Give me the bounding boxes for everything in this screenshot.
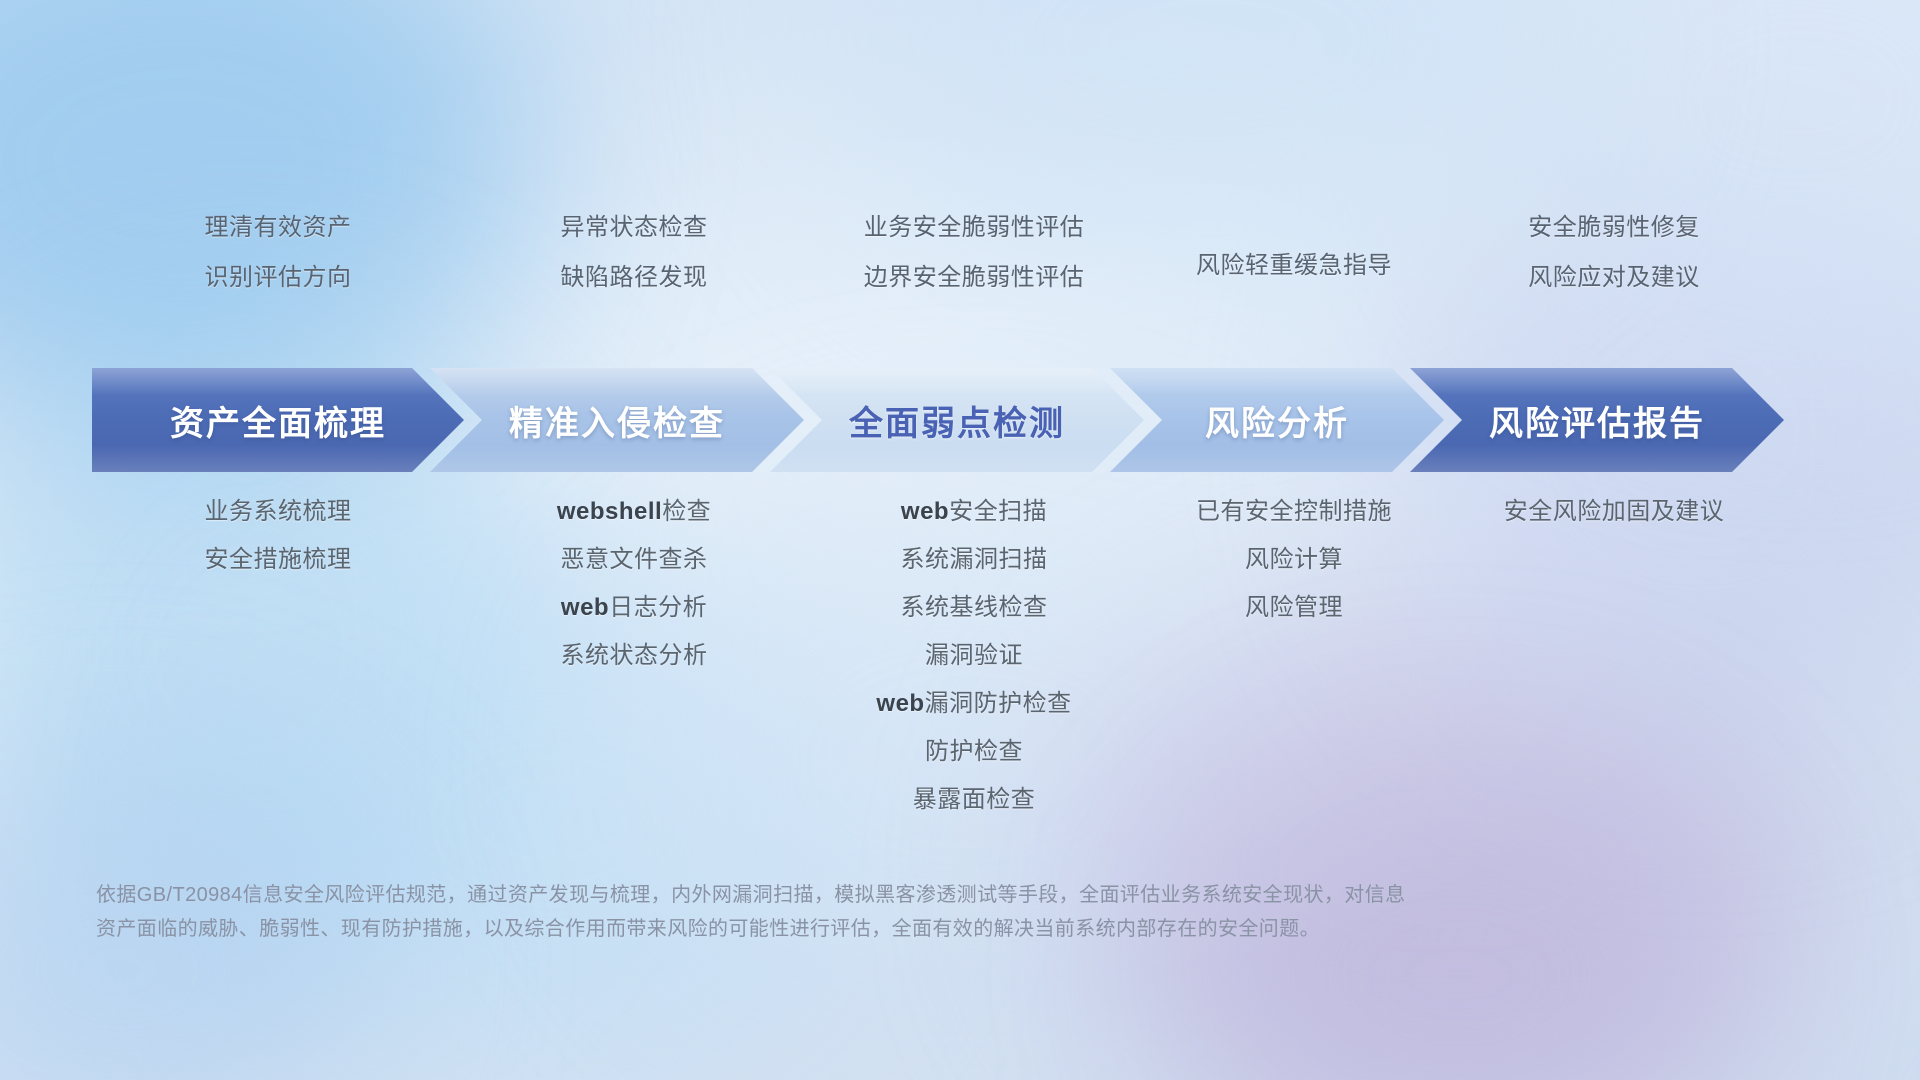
note-item: 理清有效资产: [205, 216, 352, 240]
note-item: 安全脆弱性修复: [1528, 216, 1700, 240]
footer-line-1: 依据GB/T20984信息安全风险评估规范，通过资产发现与梳理，内外网漏洞扫描，…: [96, 878, 1656, 912]
note-item: 系统漏洞扫描: [901, 548, 1048, 572]
process-step-label: 风险分析: [1205, 396, 1349, 445]
note-item: webshell检查: [557, 500, 711, 524]
footer-description: 依据GB/T20984信息安全风险评估规范，通过资产发现与梳理，内外网漏洞扫描，…: [96, 878, 1656, 946]
bottom-notes-step-3: web安全扫描 系统漏洞扫描 系统基线检查 漏洞验证 web漏洞防护检查 防护检…: [804, 500, 1144, 836]
bottom-notes-step-5: 安全风险加固及建议: [1444, 500, 1784, 548]
top-notes-step-1: 理清有效资产 识别评估方向: [92, 216, 464, 336]
note-item: 异常状态检查: [561, 216, 708, 240]
note-item: web日志分析: [561, 596, 707, 620]
process-step-label: 风险评估报告: [1489, 396, 1705, 445]
process-step-label: 精准入侵检查: [509, 396, 725, 445]
note-item: 系统基线检查: [901, 596, 1048, 620]
process-step-1[interactable]: 资产全面梳理: [92, 368, 464, 472]
note-item: web漏洞防护检查: [876, 692, 1071, 716]
process-step-label: 资产全面梳理: [170, 396, 386, 445]
note-item: 业务系统梳理: [205, 500, 352, 524]
note-item: web安全扫描: [901, 500, 1047, 524]
footer-line-2: 资产面临的威胁、脆弱性、现有防护措施，以及综合作用而带来风险的可能性进行评估，全…: [96, 912, 1656, 946]
note-item: 暴露面检查: [913, 788, 1036, 812]
top-notes-step-2: 异常状态检查 缺陷路径发现: [464, 216, 804, 336]
process-step-label: 全面弱点检测: [849, 396, 1065, 445]
process-step-4[interactable]: 风险分析: [1110, 368, 1444, 472]
note-item: 安全风险加固及建议: [1504, 500, 1725, 524]
note-item: 风险轻重缓急指导: [1196, 254, 1392, 278]
process-step-2[interactable]: 精准入侵检查: [430, 368, 804, 472]
bottom-notes-step-1: 业务系统梳理 安全措施梳理: [92, 500, 464, 596]
note-item: 漏洞验证: [925, 644, 1023, 668]
note-item: 缺陷路径发现: [561, 266, 708, 290]
note-item: 已有安全控制措施: [1196, 500, 1392, 524]
process-step-3[interactable]: 全面弱点检测: [770, 368, 1144, 472]
top-notes-step-4: 风险轻重缓急指导: [1144, 216, 1444, 336]
note-item: 防护检查: [925, 740, 1023, 764]
bottom-notes-row: 业务系统梳理 安全措施梳理 webshell检查 恶意文件查杀 web日志分析 …: [0, 500, 1920, 836]
note-item: 恶意文件查杀: [561, 548, 708, 572]
note-item: 边界安全脆弱性评估: [864, 266, 1085, 290]
bottom-notes-step-4: 已有安全控制措施 风险计算 风险管理: [1144, 500, 1444, 644]
process-diagram: 理清有效资产 识别评估方向 异常状态检查 缺陷路径发现 业务安全脆弱性评估 边界…: [0, 0, 1920, 1080]
process-step-5[interactable]: 风险评估报告: [1410, 368, 1784, 472]
note-item: 业务安全脆弱性评估: [864, 216, 1085, 240]
note-item: 风险管理: [1245, 596, 1343, 620]
note-item: 系统状态分析: [561, 644, 708, 668]
top-notes-row: 理清有效资产 识别评估方向 异常状态检查 缺陷路径发现 业务安全脆弱性评估 边界…: [0, 216, 1920, 336]
bottom-notes-step-2: webshell检查 恶意文件查杀 web日志分析 系统状态分析: [464, 500, 804, 692]
note-item: 识别评估方向: [205, 266, 352, 290]
note-item: 风险应对及建议: [1528, 266, 1700, 290]
process-arrow-band: 资产全面梳理 精准入侵检查 全面弱点检测 风险分析 风险评估报告: [92, 368, 1832, 472]
note-item: 风险计算: [1245, 548, 1343, 572]
note-item: 安全措施梳理: [205, 548, 352, 572]
top-notes-step-5: 安全脆弱性修复 风险应对及建议: [1444, 216, 1784, 336]
top-notes-step-3: 业务安全脆弱性评估 边界安全脆弱性评估: [804, 216, 1144, 336]
